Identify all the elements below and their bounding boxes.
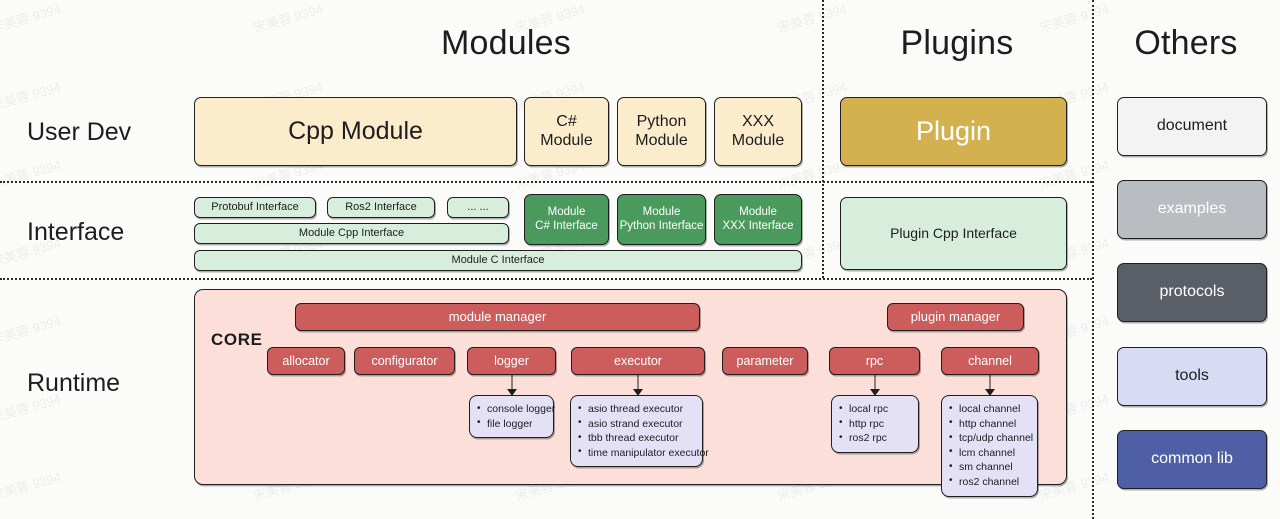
protobuf-interface-box[interactable]: Protobuf Interface — [194, 197, 316, 218]
logger-details-box: console loggerfile logger — [469, 395, 554, 438]
module-python-interface-box[interactable]: Module Python Interface — [617, 194, 706, 245]
detail-list-item: time manipulator executor — [577, 446, 694, 461]
detail-list-item: asio strand executor — [577, 417, 694, 432]
cpp-module-box[interactable]: Cpp Module — [194, 97, 517, 166]
others-tools-box[interactable]: tools — [1117, 347, 1267, 406]
divider-plugins-others — [1092, 0, 1094, 519]
detail-list-item: asio thread executor — [577, 402, 694, 417]
module-xxx-interface-box[interactable]: Module XXX Interface — [714, 194, 802, 245]
logger-arrow — [487, 375, 537, 395]
rpc-arrow — [850, 375, 900, 395]
detail-list-item: http channel — [948, 417, 1029, 432]
column-header-others: Others — [1092, 24, 1280, 63]
detail-list-item: file logger — [476, 417, 545, 432]
module-c-interface-box[interactable]: Module C Interface — [194, 250, 802, 271]
executor-arrow — [613, 375, 663, 395]
watermark-text: 宋美蓉 9394 — [0, 155, 63, 193]
detail-list-item: ros2 channel — [948, 475, 1029, 490]
detail-list-item: http rpc — [838, 417, 910, 432]
rpc-box[interactable]: rpc — [829, 347, 920, 375]
configurator-box[interactable]: configurator — [354, 347, 455, 375]
watermark-text: 宋美蓉 9394 — [0, 467, 63, 505]
plugin-box[interactable]: Plugin — [840, 97, 1067, 166]
channel-box[interactable]: channel — [941, 347, 1039, 375]
plugin-cpp-interface-box[interactable]: Plugin Cpp Interface — [840, 197, 1067, 270]
executor-details-box: asio thread executorasio strand executor… — [570, 395, 703, 467]
allocator-box[interactable]: allocator — [267, 347, 345, 375]
ros2-interface-box[interactable]: Ros2 Interface — [327, 197, 435, 218]
logger-box[interactable]: logger — [467, 347, 556, 375]
more-interface-box[interactable]: ... ... — [447, 197, 509, 218]
others-protocols-box[interactable]: protocols — [1117, 263, 1267, 322]
detail-list-item: ros2 rpc — [838, 431, 910, 446]
detail-list-item: tcp/udp channel — [948, 431, 1029, 446]
rpc-details-list: local rpchttp rpcros2 rpc — [838, 402, 910, 446]
others-common-lib-box[interactable]: common lib — [1117, 430, 1267, 489]
parameter-box[interactable]: parameter — [722, 347, 808, 375]
column-header-plugins: Plugins — [822, 24, 1092, 63]
divider-user-dev-interface — [0, 181, 1092, 183]
detail-list-item: local rpc — [838, 402, 910, 417]
module-manager-box[interactable]: module manager — [295, 303, 700, 331]
others-document-box[interactable]: document — [1117, 97, 1267, 156]
xxx-module-box[interactable]: XXX Module — [714, 97, 802, 166]
module-cpp-interface-box[interactable]: Module Cpp Interface — [194, 223, 509, 244]
executor-box[interactable]: executor — [571, 347, 705, 375]
executor-details-list: asio thread executorasio strand executor… — [577, 402, 694, 460]
row-label-runtime: Runtime — [27, 369, 120, 398]
channel-details-list: local channelhttp channeltcp/udp channel… — [948, 402, 1029, 490]
column-header-modules: Modules — [190, 24, 822, 63]
others-examples-box[interactable]: examples — [1117, 180, 1267, 239]
logger-details-list: console loggerfile logger — [476, 402, 545, 431]
channel-arrow — [965, 375, 1015, 395]
channel-details-box: local channelhttp channeltcp/udp channel… — [941, 395, 1038, 497]
detail-list-item: tbb thread executor — [577, 431, 694, 446]
row-label-interface: Interface — [27, 218, 124, 247]
row-label-user-dev: User Dev — [27, 118, 131, 147]
divider-interface-runtime — [0, 278, 1092, 280]
rpc-details-box: local rpchttp rpcros2 rpc — [831, 395, 919, 453]
python-module-box[interactable]: Python Module — [617, 97, 706, 166]
watermark-text: 宋美蓉 9394 — [0, 77, 63, 115]
watermark-text: 宋美蓉 9394 — [0, 0, 63, 36]
detail-list-item: lcm channel — [948, 446, 1029, 461]
detail-list-item: sm channel — [948, 460, 1029, 475]
module-csharp-interface-box[interactable]: Module C# Interface — [524, 194, 609, 245]
detail-list-item: local channel — [948, 402, 1029, 417]
watermark-text: 宋美蓉 9394 — [0, 311, 63, 349]
csharp-module-box[interactable]: C# Module — [524, 97, 609, 166]
detail-list-item: console logger — [476, 402, 545, 417]
architecture-diagram: 宋美蓉 9394宋美蓉 9394宋美蓉 9394宋美蓉 9394宋美蓉 9394… — [0, 0, 1280, 519]
core-label: CORE — [211, 330, 263, 350]
plugin-manager-box[interactable]: plugin manager — [887, 303, 1024, 331]
